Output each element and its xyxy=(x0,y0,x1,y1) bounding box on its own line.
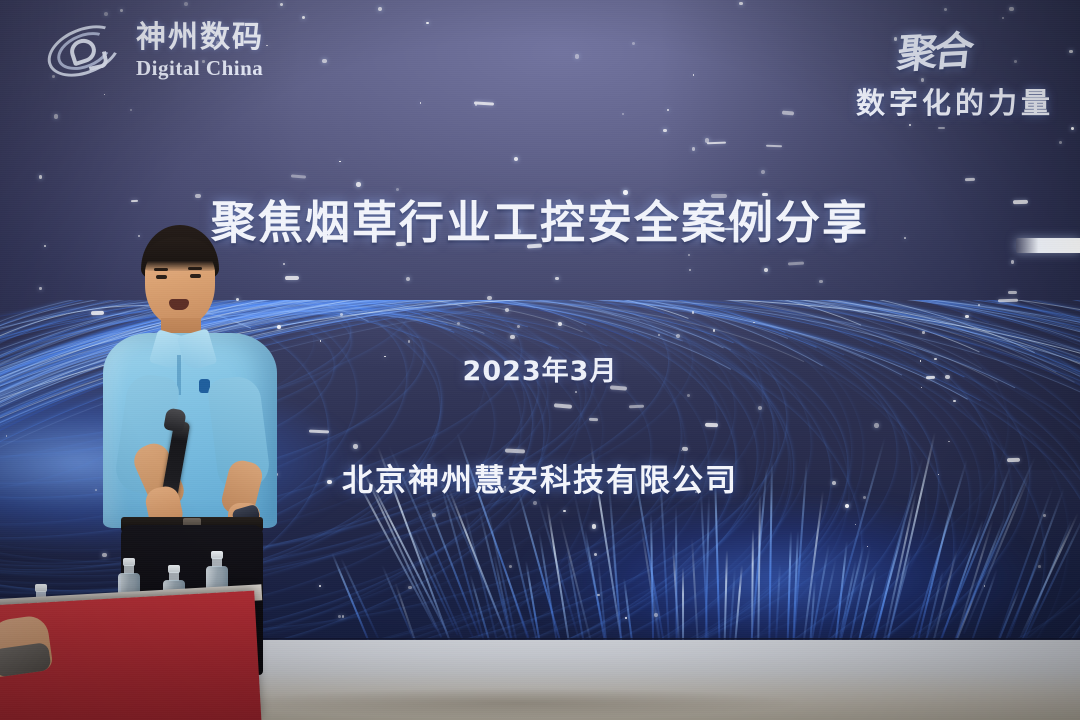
slogan-sub-text: 数字化的力量 xyxy=(856,80,1054,122)
stage-floor-shadow xyxy=(230,686,950,720)
digital-china-logo: 神州数码 Digital China xyxy=(44,18,264,84)
speaker-eye-right xyxy=(190,274,201,278)
brand-name-cn: 神州数码 xyxy=(136,23,264,53)
slogan-brush-line: 聚合 xyxy=(856,20,1054,78)
slogan-brush-text: 聚合 xyxy=(895,18,974,80)
conference-stage-photo: 神州数码 Digital China 聚合 数字化的力量 聚焦烟草行业工控安全案… xyxy=(0,0,1080,720)
digital-china-wordmark: 神州数码 Digital China xyxy=(136,23,264,79)
speaker-eye-left xyxy=(156,275,167,279)
microphone-head-icon xyxy=(163,407,187,432)
spiral-galaxy-icon xyxy=(44,18,126,84)
event-slogan: 聚合 数字化的力量 xyxy=(856,20,1054,122)
speaker-mouth xyxy=(169,299,189,310)
speaker-brow-right xyxy=(188,267,202,270)
screen-right-light-bar xyxy=(1016,238,1080,253)
speaker-brow-left xyxy=(154,268,168,271)
brand-name-en: Digital China xyxy=(136,58,264,79)
